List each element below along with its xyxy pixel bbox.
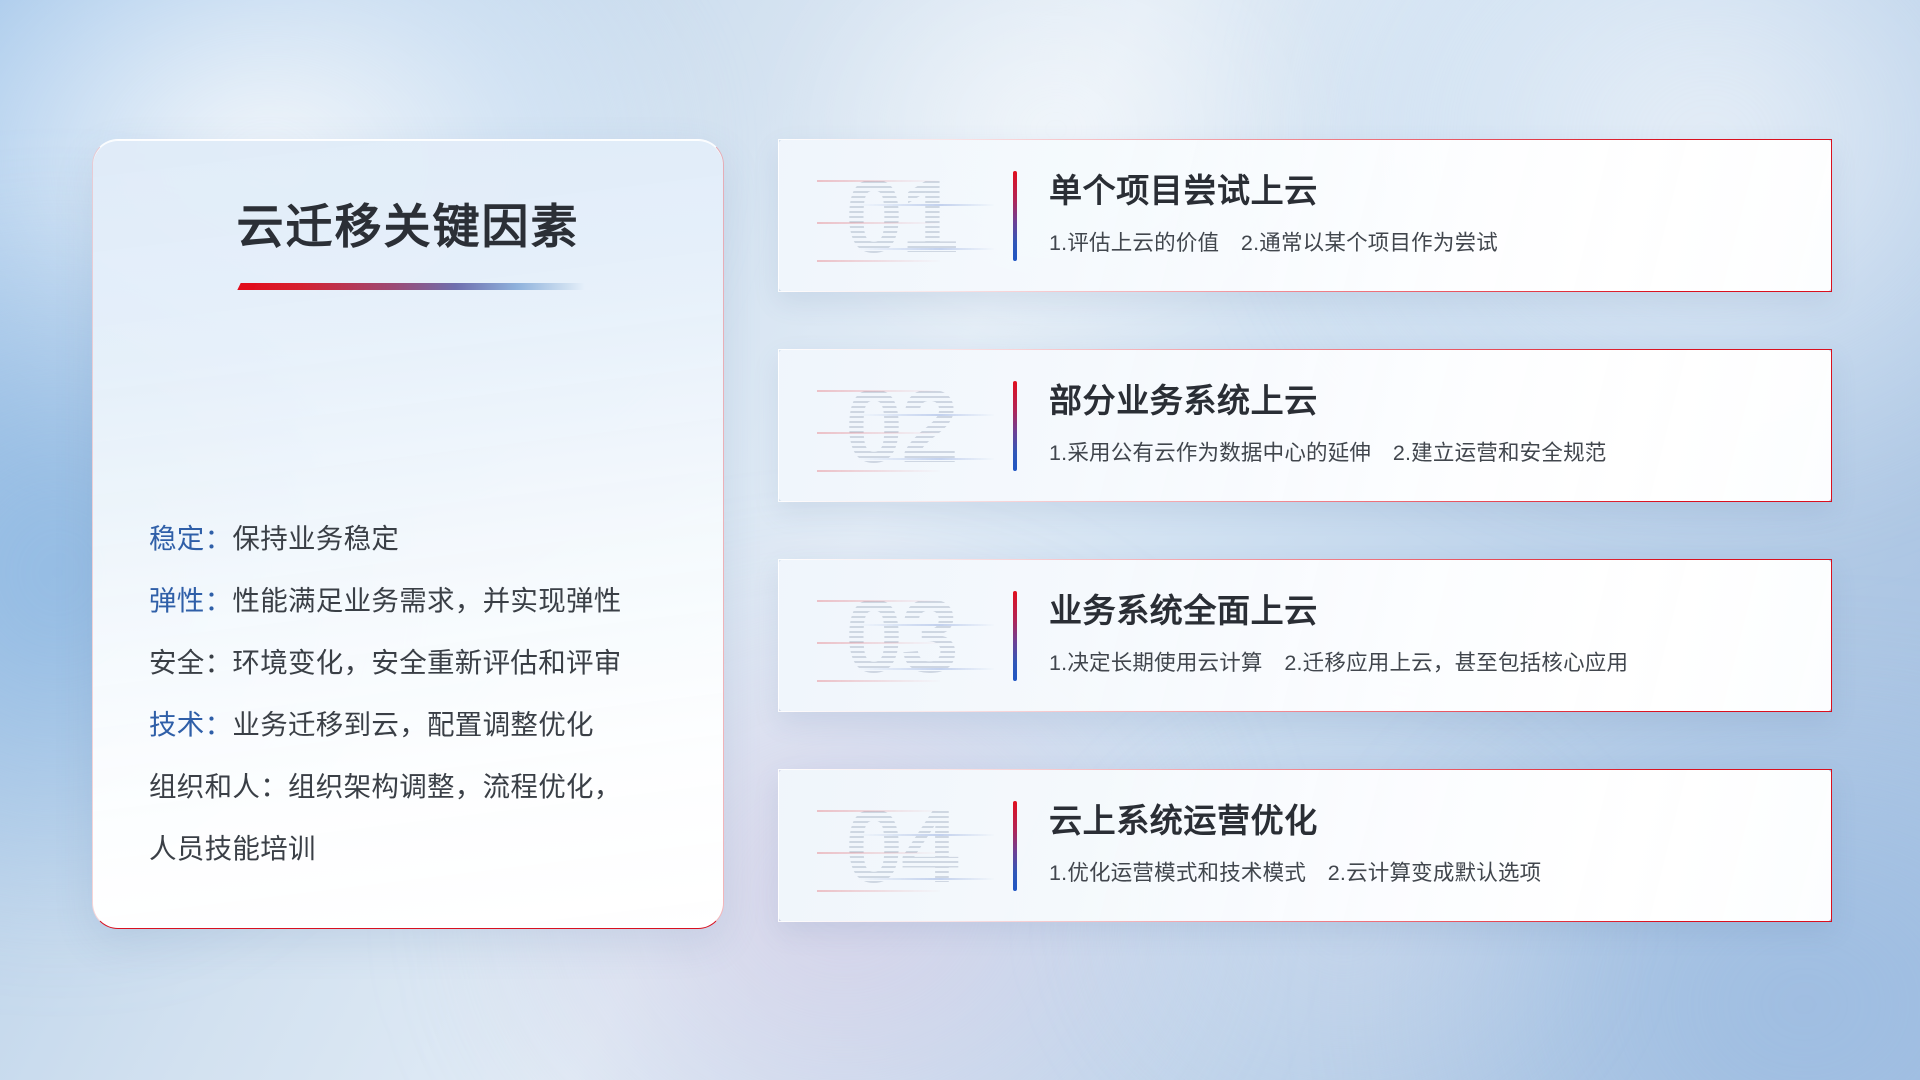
factor-value: 性能满足业务需求，并实现弹性: [232, 585, 621, 616]
factor-item-technology: 技术：业务迁移到云，配置调整优化: [149, 694, 683, 756]
step-title: 业务系统全面上云: [1049, 584, 1318, 632]
factor-item-elasticity: 弹性：性能满足业务需求，并实现弹性: [149, 570, 683, 632]
step-number-02: 02: [817, 366, 985, 488]
step-title: 部分业务系统上云: [1049, 374, 1318, 422]
factor-label: 弹性：: [149, 585, 232, 616]
title-underline-gradient: [245, 283, 585, 290]
step-number-03: 03: [817, 576, 985, 698]
step-card-03[interactable]: 03 业务系统全面上云 1.决定长期使用云计算 2.迁移应用上云，甚至包括核心应…: [778, 559, 1832, 712]
factor-value: 环境变化，安全重新评估和评审: [232, 647, 621, 678]
step-divider-bar: [1013, 171, 1017, 261]
step-subtitle: 1.评估上云的价值 2.通常以某个项目作为尝试: [1049, 226, 1498, 257]
factor-item-security: 安全：环境变化，安全重新评估和评审: [149, 632, 683, 694]
factor-value: 保持业务稳定: [232, 523, 399, 554]
step-subtitle: 1.决定长期使用云计算 2.迁移应用上云，甚至包括核心应用: [1049, 646, 1628, 677]
step-divider-bar: [1013, 801, 1017, 891]
step-number-01: 01: [817, 156, 985, 278]
step-title: 单个项目尝试上云: [1049, 164, 1318, 212]
factor-label: 技术：: [149, 709, 232, 740]
factor-label: 组织和人：: [149, 771, 288, 802]
factor-item-stability: 稳定：保持业务稳定: [149, 508, 683, 570]
step-card-01[interactable]: 01 单个项目尝试上云 1.评估上云的价值 2.通常以某个项目作为尝试: [778, 139, 1832, 292]
step-divider-bar: [1013, 381, 1017, 471]
step-subtitle: 1.优化运营模式和技术模式 2.云计算变成默认选项: [1049, 856, 1541, 887]
factor-item-organization-continued: 人员技能培训: [149, 818, 683, 880]
step-subtitle: 1.采用公有云作为数据中心的延伸 2.建立运营和安全规范: [1049, 436, 1606, 467]
factor-label: 稳定：: [149, 523, 232, 554]
factor-item-organization: 组织和人：组织架构调整，流程优化，: [149, 756, 683, 818]
slide-stage: 云迁移关键因素 稳定：保持业务稳定 弹性：性能满足业务需求，并实现弹性 安全：环…: [0, 0, 1920, 1080]
panel-title: 云迁移关键因素: [93, 188, 723, 257]
key-factors-list: 稳定：保持业务稳定 弹性：性能满足业务需求，并实现弹性 安全：环境变化，安全重新…: [149, 508, 683, 880]
step-card-04[interactable]: 04 云上系统运营优化 1.优化运营模式和技术模式 2.云计算变成默认选项: [778, 769, 1832, 922]
key-factors-panel: 云迁移关键因素 稳定：保持业务稳定 弹性：性能满足业务需求，并实现弹性 安全：环…: [92, 139, 724, 929]
step-card-02[interactable]: 02 部分业务系统上云 1.采用公有云作为数据中心的延伸 2.建立运营和安全规范: [778, 349, 1832, 502]
factor-value: 业务迁移到云，配置调整优化: [232, 709, 593, 740]
step-number-04: 04: [817, 786, 985, 908]
factor-value: 组织架构调整，流程优化，: [288, 771, 622, 802]
factor-label: 安全：: [149, 647, 232, 678]
step-title: 云上系统运营优化: [1049, 794, 1318, 842]
step-divider-bar: [1013, 591, 1017, 681]
